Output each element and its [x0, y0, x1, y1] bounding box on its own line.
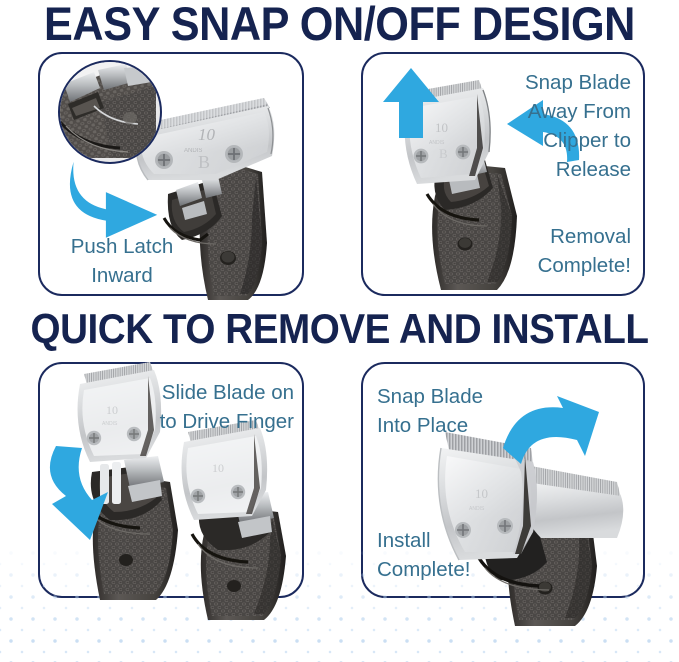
arrow-up-icon [379, 66, 443, 140]
svg-text:ANDIS: ANDIS [469, 506, 485, 512]
latch-detail-image [60, 62, 156, 158]
install-complete-caption: Install Complete! [377, 526, 552, 584]
svg-text:10: 10 [212, 461, 224, 475]
clipper-blade-aligning-right: 10 [172, 420, 342, 610]
heading-quick-remove: QUICK TO REMOVE AND INSTALL [27, 306, 652, 352]
panel-snap-into-place: 10 ANDIS Snap Blade Into Pla [361, 362, 645, 598]
svg-text:B: B [198, 152, 210, 172]
panel-slide-blade: 10 ANDIS [38, 362, 304, 598]
push-latch-caption: Push Latch Inward [42, 232, 202, 290]
latch-detail-inset [58, 60, 162, 164]
panel-push-latch: 10 ANDIS B [38, 52, 304, 296]
panel-snap-blade-away: 10 ANDIS B [361, 52, 645, 296]
slide-blade-caption: Slide Blade on to Drive Finger [104, 378, 294, 436]
snap-into-place-caption: Snap Blade Into Place [377, 382, 552, 440]
snap-blade-away-caption: Snap Blade Away From Clipper to Release [456, 68, 631, 184]
heading-easy-snap: EASY SNAP ON/OFF DESIGN [27, 0, 652, 50]
curved-arrow-down-icon [46, 442, 122, 546]
removal-complete-caption: Removal Complete! [456, 222, 631, 280]
svg-text:10: 10 [475, 486, 488, 501]
svg-text:B: B [439, 146, 448, 161]
svg-text:10: 10 [198, 125, 216, 144]
infographic-stage: EASY SNAP ON/OFF DESIGN QUICK TO REMOVE … [0, 0, 679, 662]
